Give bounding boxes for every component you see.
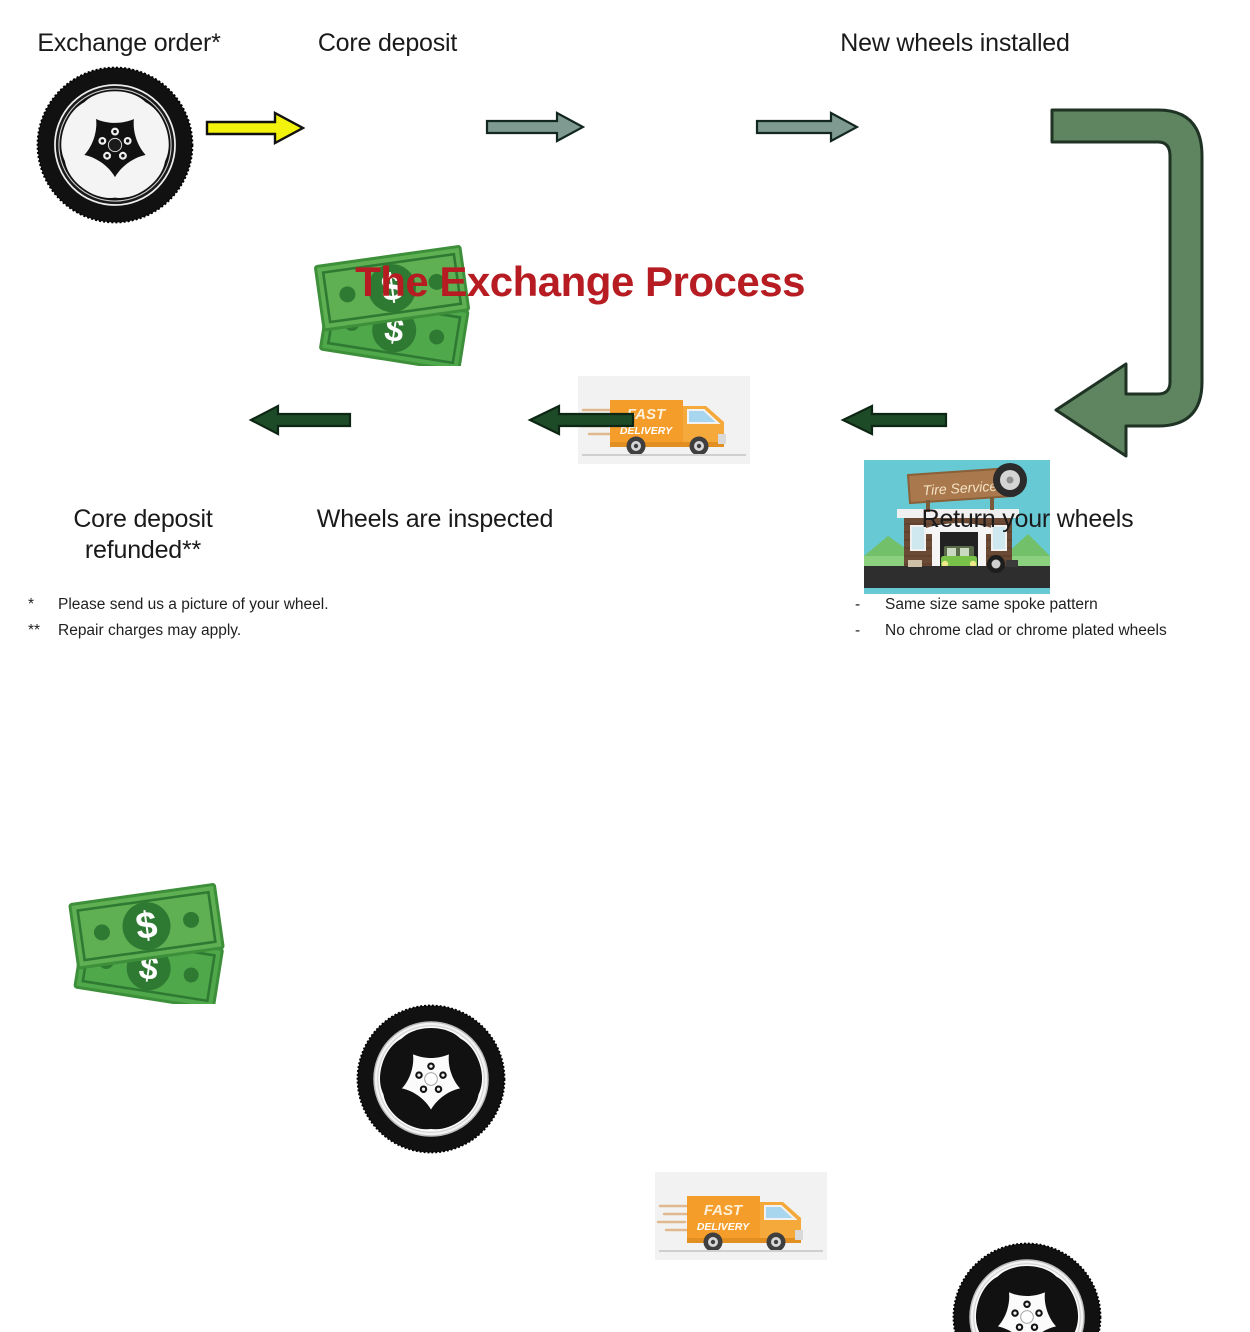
footnote-text: No chrome clad or chrome plated wheels xyxy=(885,618,1167,644)
footnote-text: Please send us a picture of your wheel. xyxy=(58,592,329,618)
footnote-text: Repair charges may apply. xyxy=(58,618,241,644)
step-label-wheels-inspected: Wheels are inspected xyxy=(290,504,580,535)
step-label-core-deposit: Core deposit xyxy=(250,28,525,59)
step-label-new-wheels-installed: New wheels installed xyxy=(805,28,1105,59)
arrow-truck-to-shop xyxy=(755,110,859,144)
arrow-return-to-truck xyxy=(840,403,948,437)
arrow-order-to-deposit xyxy=(205,110,305,146)
footnote-bullet: - xyxy=(855,592,885,618)
money-icon: $ $ xyxy=(58,868,236,1004)
footnotes-right: - Same size same spoke pattern - No chro… xyxy=(855,592,1250,644)
truck-text-delivery: DELIVERY xyxy=(697,1221,750,1233)
wheel-black-icon xyxy=(36,66,194,224)
footnotes-left: * Please send us a picture of your wheel… xyxy=(28,592,498,644)
delivery-truck-icon: FAST DELIVERY xyxy=(655,1172,827,1260)
wheel-chrome-icon xyxy=(356,1004,506,1154)
footnote-left-item: ** Repair charges may apply. xyxy=(28,618,498,644)
step-label-core-deposit-refunded: Core deposit refunded** xyxy=(18,504,268,566)
step-label-return-your-wheels: Return your wheels xyxy=(885,504,1170,535)
footnote-bullet: - xyxy=(855,618,885,644)
arrow-truck-to-inspection xyxy=(527,403,635,437)
arrow-inspection-to-refund xyxy=(248,403,352,437)
footnote-right-item: - Same size same spoke pattern xyxy=(855,592,1250,618)
truck-text-fast: FAST xyxy=(704,1202,744,1219)
footnote-mark: * xyxy=(28,592,58,618)
footnote-text: Same size same spoke pattern xyxy=(885,592,1098,618)
footnote-right-item: - No chrome clad or chrome plated wheels xyxy=(855,618,1250,644)
footnote-mark: ** xyxy=(28,618,58,644)
arrow-deposit-to-truck xyxy=(485,110,585,144)
infographic-canvas: Exchange order* xyxy=(0,0,1250,666)
step-label-exchange-order: Exchange order* xyxy=(0,28,258,59)
footnote-left-item: * Please send us a picture of your wheel… xyxy=(28,592,498,618)
wheel-chrome-icon xyxy=(952,1242,1102,1332)
page-title: The Exchange Process xyxy=(0,258,1160,306)
